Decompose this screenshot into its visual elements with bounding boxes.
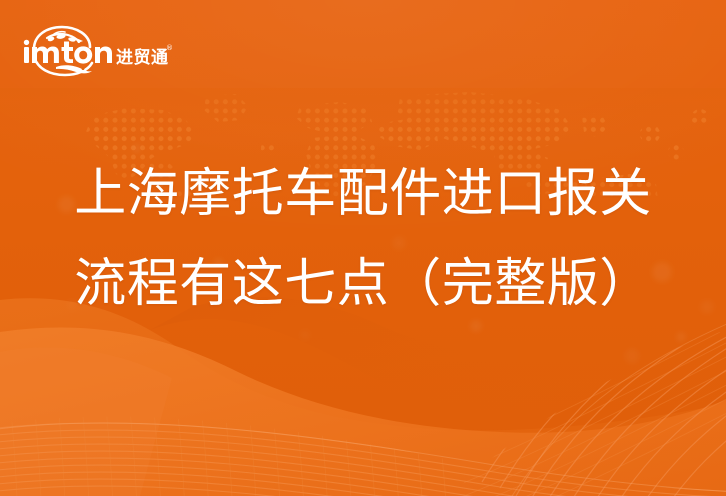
bokeh-circle [132, 144, 141, 153]
headline: 上海摩托车配件进口报关 流程有这七点（完整版） [0, 160, 726, 318]
registered-trademark-icon: ® [166, 44, 172, 52]
bokeh-circle [676, 332, 686, 342]
bokeh-circle [300, 330, 310, 340]
logo-wordmark-latin [24, 40, 112, 64]
headline-line-1: 上海摩托车配件进口报关 [0, 160, 726, 228]
imton-jinmaotong-logo[interactable]: 进贸通 ® [20, 25, 172, 77]
bokeh-circle [470, 320, 482, 332]
bokeh-circle [624, 348, 640, 364]
headline-line-2: 流程有这七点（完整版） [0, 250, 726, 318]
promo-banner: 进贸通 ® 上海摩托车配件进口报关 流程有这七点（完整版） [0, 0, 726, 496]
logo-wordmark-chinese: 进贸通 [116, 47, 169, 68]
